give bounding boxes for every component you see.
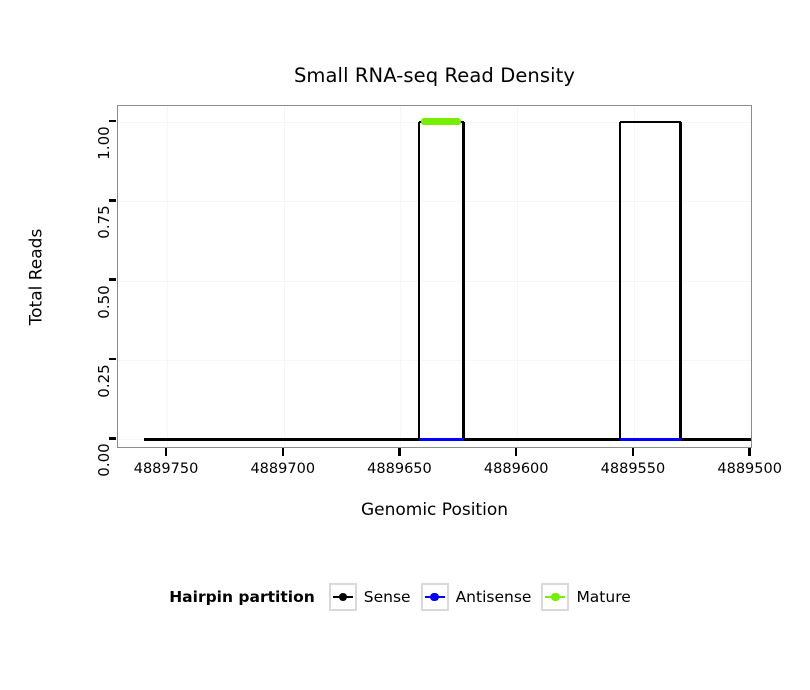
line-dot-key-icon: [421, 583, 449, 611]
series-sense-line: [619, 122, 621, 440]
series-sense-line: [679, 122, 681, 440]
plot-panel: [117, 105, 752, 448]
grid-line-vertical: [751, 106, 752, 447]
series-antisense-line: [419, 438, 463, 440]
y-axis-title-label: Total Reads: [26, 228, 46, 325]
chart-title: Small RNA-seq Read Density: [117, 64, 752, 87]
grid-line-horizontal: [118, 281, 751, 282]
line-dot-key-icon: [541, 583, 569, 611]
y-axis-tick-label: 0.25: [95, 359, 113, 403]
series-sense-line: [464, 438, 620, 440]
legend-item-label: Antisense: [456, 588, 532, 606]
x-axis-title: Genomic Position: [117, 500, 752, 520]
x-axis-tick-mark: [632, 448, 635, 456]
legend-key-dot: [551, 593, 560, 602]
series-sense-line: [144, 438, 419, 440]
grid-line-vertical: [634, 106, 635, 447]
y-axis-tick-label: 1.00: [95, 121, 113, 165]
legend: Hairpin partition SenseAntisenseMature: [0, 583, 810, 611]
x-axis-tick-mark: [165, 448, 168, 456]
series-mature-line: [421, 118, 461, 125]
legend-item-label: Mature: [576, 588, 630, 606]
x-axis-tick-label: 4889500: [717, 461, 782, 477]
x-axis-tick-label: 4889550: [601, 461, 666, 477]
series-sense-line: [418, 122, 420, 440]
grid-line-vertical: [167, 106, 168, 447]
y-axis-tick-label: 0.50: [95, 280, 113, 324]
series-sense-line: [681, 438, 752, 440]
series-sense-line: [620, 121, 681, 123]
legend-title: Hairpin partition: [169, 588, 315, 606]
grid-line-vertical: [400, 106, 401, 447]
series-antisense-line: [620, 438, 681, 440]
x-axis-tick-mark: [515, 448, 518, 456]
x-axis-tick-mark: [282, 448, 285, 456]
legend-item-mature[interactable]: Mature: [541, 583, 630, 611]
y-axis-tick-label: 0.75: [95, 200, 113, 244]
legend-key-dot: [430, 593, 439, 602]
legend-item-sense[interactable]: Sense: [329, 583, 411, 611]
x-axis-tick-label: 4889750: [134, 461, 199, 477]
x-axis-tick-mark: [398, 448, 401, 456]
chart-container: Small RNA-seq Read Density Total Reads 0…: [0, 0, 810, 690]
legend-item-antisense[interactable]: Antisense: [421, 583, 532, 611]
legend-items: SenseAntisenseMature: [329, 583, 641, 611]
y-axis-title: Total Reads: [26, 105, 46, 448]
x-axis-tick-label: 4889700: [250, 461, 315, 477]
legend-key-dot: [339, 593, 348, 602]
grid-line-vertical: [517, 106, 518, 447]
line-dot-key-icon: [329, 583, 357, 611]
legend-item-label: Sense: [364, 588, 411, 606]
grid-line-vertical: [284, 106, 285, 447]
x-axis-tick-mark: [748, 448, 751, 456]
x-axis-tick-label: 4889600: [484, 461, 549, 477]
x-axis-tick-label: 4889650: [367, 461, 432, 477]
series-sense-line: [462, 122, 464, 440]
y-axis-tick-label: 0.00: [95, 438, 113, 482]
grid-line-horizontal: [118, 201, 751, 202]
grid-line-horizontal: [118, 360, 751, 361]
